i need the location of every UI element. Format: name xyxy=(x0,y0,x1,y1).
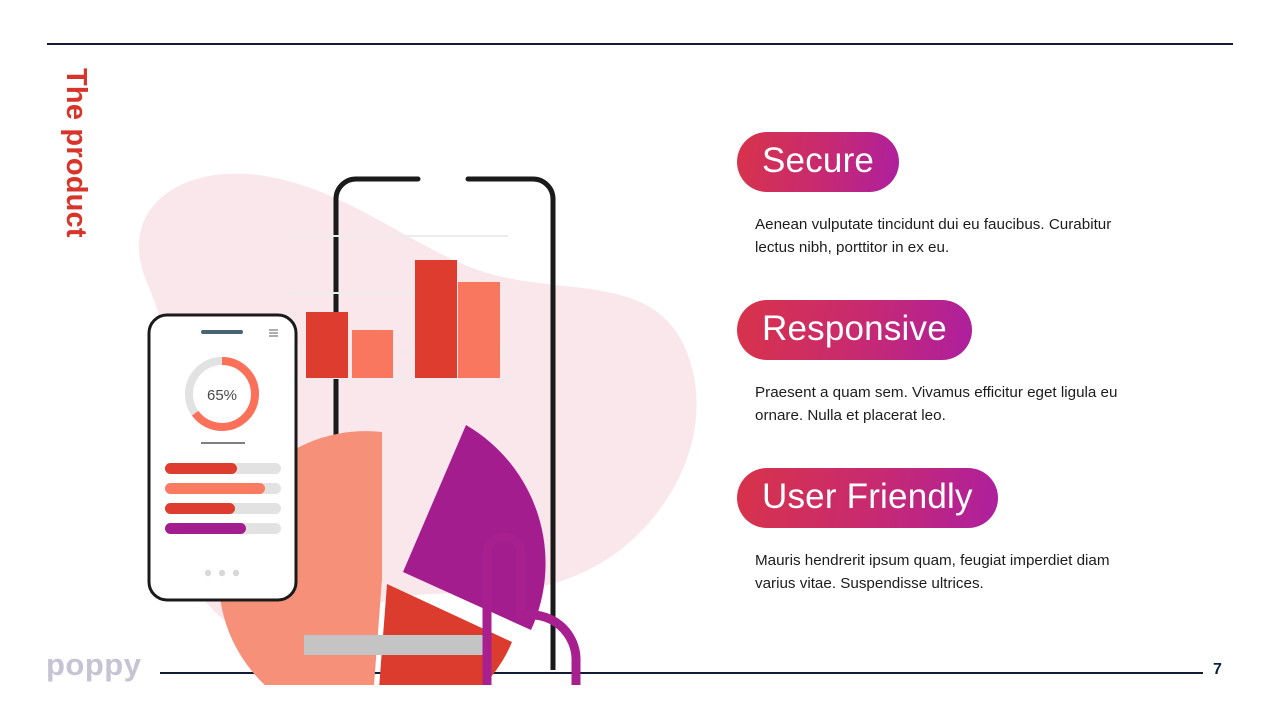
bottom-bar xyxy=(304,635,484,655)
bar-4 xyxy=(458,282,500,378)
feature-description: Mauris hendrerit ipsum quam, feugiat imp… xyxy=(755,549,1120,595)
progress-bar-3 xyxy=(165,503,235,514)
slide: The product xyxy=(0,0,1280,720)
feature-item: Secure Aenean vulputate tincidunt dui eu… xyxy=(737,132,1157,259)
tablet-corner-tr xyxy=(468,179,553,212)
product-illustration: 65% xyxy=(108,150,708,685)
feature-item: Responsive Praesent a quam sem. Vivamus … xyxy=(737,300,1157,427)
top-rule xyxy=(47,43,1233,45)
bar-3 xyxy=(415,260,457,378)
bar-1 xyxy=(306,312,348,378)
feature-pill-responsive[interactable]: Responsive xyxy=(737,300,972,360)
feature-description: Aenean vulputate tincidunt dui eu faucib… xyxy=(755,213,1120,259)
page-title: The product xyxy=(56,68,96,298)
features-list: Secure Aenean vulputate tincidunt dui eu… xyxy=(737,132,1157,595)
donut-label: 65% xyxy=(207,387,237,404)
progress-bar-1 xyxy=(165,463,237,474)
feature-pill-secure[interactable]: Secure xyxy=(737,132,899,192)
page-number: 7 xyxy=(1213,660,1222,680)
bar-2 xyxy=(352,330,393,378)
progress-bar-2 xyxy=(165,483,265,494)
phone-dots xyxy=(205,570,239,576)
phone-mockup: 65% xyxy=(149,315,296,600)
brand-logo: poppy xyxy=(46,648,142,682)
feature-pill-user-friendly[interactable]: User Friendly xyxy=(737,468,998,528)
phone-speaker xyxy=(201,330,243,334)
progress-bar-4 xyxy=(165,523,246,534)
feature-description: Praesent a quam sem. Vivamus efficitur e… xyxy=(755,381,1120,427)
feature-item: User Friendly Mauris hendrerit ipsum qua… xyxy=(737,468,1157,595)
